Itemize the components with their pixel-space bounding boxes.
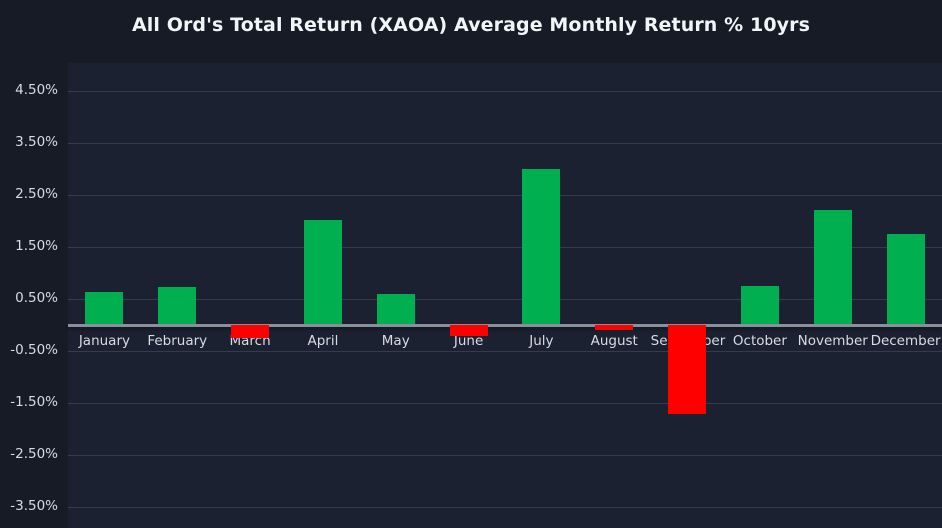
gridline bbox=[68, 247, 942, 248]
x-axis-label-july: July bbox=[505, 333, 578, 349]
plot-area: JanuaryFebruaryMarchAprilMayJuneJulyAugu… bbox=[68, 63, 942, 528]
y-axis-tick-label: 2.50% bbox=[0, 186, 58, 202]
y-axis-tick-label: 4.50% bbox=[0, 82, 58, 98]
x-axis-label-december: December bbox=[869, 333, 942, 349]
y-axis-tick-label: -1.50% bbox=[0, 394, 58, 410]
gridline bbox=[68, 455, 942, 456]
chart-title: All Ord's Total Return (XAOA) Average Mo… bbox=[0, 14, 942, 36]
x-axis-label-november: November bbox=[796, 333, 869, 349]
x-axis-label-april: April bbox=[287, 333, 360, 349]
bar-january[interactable] bbox=[85, 292, 123, 325]
y-axis-tick-label: -3.50% bbox=[0, 498, 58, 514]
bar-may[interactable] bbox=[377, 294, 415, 325]
x-axis-label-august: August bbox=[578, 333, 651, 349]
x-axis-label-january: January bbox=[68, 333, 141, 349]
gridline bbox=[68, 403, 942, 404]
y-axis-tick-label: 0.50% bbox=[0, 290, 58, 306]
bar-october[interactable] bbox=[741, 286, 779, 325]
gridline bbox=[68, 299, 942, 300]
y-axis-tick-label: -2.50% bbox=[0, 446, 58, 462]
bar-august[interactable] bbox=[595, 325, 633, 330]
bar-december[interactable] bbox=[887, 234, 925, 325]
zero-axis-line bbox=[68, 324, 942, 327]
bar-september[interactable] bbox=[668, 325, 706, 414]
gridline bbox=[68, 143, 942, 144]
y-axis-tick-label: 1.50% bbox=[0, 238, 58, 254]
bar-february[interactable] bbox=[158, 287, 196, 325]
bar-june[interactable] bbox=[450, 325, 488, 336]
x-axis-label-october: October bbox=[724, 333, 797, 349]
gridline bbox=[68, 195, 942, 196]
bar-july[interactable] bbox=[522, 169, 560, 325]
gridline bbox=[68, 351, 942, 352]
x-axis-label-may: May bbox=[359, 333, 432, 349]
y-axis-tick-label: 3.50% bbox=[0, 134, 58, 150]
bar-march[interactable] bbox=[231, 325, 269, 338]
y-axis-tick-label: -0.50% bbox=[0, 342, 58, 358]
gridline bbox=[68, 507, 942, 508]
gridline bbox=[68, 91, 942, 92]
bar-april[interactable] bbox=[304, 220, 342, 325]
x-axis-label-february: February bbox=[141, 333, 214, 349]
bar-chart: All Ord's Total Return (XAOA) Average Mo… bbox=[0, 0, 942, 528]
bar-november[interactable] bbox=[814, 210, 852, 325]
